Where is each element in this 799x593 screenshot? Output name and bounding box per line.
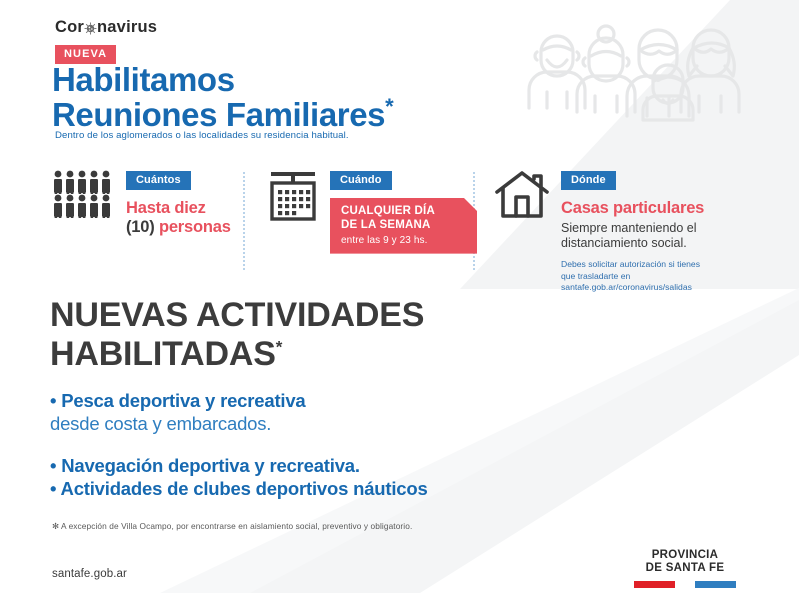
page-subtitle: Dentro de los aglomerados o las localida… (55, 130, 349, 141)
section-title: NUEVAS ACTIVIDADES HABILITADAS* (50, 296, 424, 375)
cuantos-headline: Hasta diez (10) personas (126, 199, 231, 237)
activities-list: • Pesca deportiva y recreativa desde cos… (50, 390, 428, 500)
donde-note-line-1: Debes solicitar autorización si tienes (561, 259, 704, 270)
cuando-ribbon: CUALQUIER DÍA DE LA SEMANA entre las 9 y… (330, 198, 477, 254)
activity-title: • Pesca deportiva y recreativa (50, 390, 428, 413)
wordmark-suffix: navirus (97, 18, 157, 37)
column-divider-1 (243, 172, 245, 270)
info-column-cuantos: Cuántos Hasta diez (10) personas (52, 170, 231, 237)
info-column-donde: Dónde Casas particulares Siempre manteni… (495, 170, 704, 294)
donde-note-url[interactable]: santafe.gob.ar/coronavirus/salidas (561, 282, 704, 293)
house-icon (495, 170, 549, 220)
province-logo-line-2: DE SANTA FE (634, 562, 736, 575)
logo-bar-blue (695, 581, 736, 588)
section-title-line-1: NUEVAS ACTIVIDADES (50, 296, 424, 335)
activity-detail: desde costa y embarcados. (50, 413, 428, 436)
coronavirus-wordmark: Cor navirus (55, 18, 157, 37)
cuantos-number: (10) (126, 218, 155, 236)
section-title-line-2: HABILITADAS (50, 335, 276, 373)
activity-title: • Navegación deportiva y recreativa. (50, 455, 428, 478)
list-item: • Actividades de clubes deportivos náuti… (50, 478, 428, 501)
page-title-line-1: Habilitamos (52, 62, 393, 97)
site-url[interactable]: santafe.gob.ar (52, 568, 127, 580)
ribbon-line-2: DE LA SEMANA (341, 219, 449, 233)
page-title-line-2-wrap: Reuniones Familiares* (52, 97, 393, 132)
donde-body: Siempre manteniendo el distanciamiento s… (561, 221, 704, 252)
info-column-cuando: Cuándo CUALQUIER DÍA DE LA SEMANA entre … (268, 170, 477, 254)
badge-donde: Dónde (561, 171, 616, 190)
page-title-line-2: Reuniones Familiares (52, 96, 385, 133)
title-asterisk: * (385, 94, 393, 119)
donde-headline: Casas particulares (561, 199, 704, 218)
family-outline-icon (527, 16, 757, 128)
list-item: • Pesca deportiva y recreativa desde cos… (50, 390, 428, 435)
badge-cuando: Cuándo (330, 171, 392, 190)
list-spacer (50, 435, 428, 455)
people-group-icon (52, 170, 114, 218)
donde-body-line-1: Siempre manteniendo el (561, 221, 704, 236)
infographic-poster: Cor navirus NUEVA (0, 0, 799, 593)
cuantos-line-2: (10) personas (126, 218, 231, 237)
list-item: • Navegación deportiva y recreativa. (50, 455, 428, 478)
donde-body-line-2: distanciamiento social. (561, 236, 704, 251)
section-title-line-2-wrap: HABILITADAS* (50, 335, 424, 374)
province-logo-bars (634, 581, 736, 588)
province-logo-line-1: PROVINCIA (634, 549, 736, 562)
ribbon-line-3: entre las 9 y 23 hs. (341, 235, 449, 246)
wordmark-prefix: Cor (55, 18, 84, 37)
section-title-asterisk: * (276, 338, 282, 357)
badge-cuantos: Cuántos (126, 171, 191, 190)
activity-title: • Actividades de clubes deportivos náuti… (50, 478, 428, 501)
page-title: Habilitamos Reuniones Familiares* (52, 62, 393, 133)
calendar-icon (268, 170, 318, 222)
virus-icon (84, 22, 97, 35)
ribbon-line-1: CUALQUIER DÍA (341, 205, 449, 219)
logo-bar-red (634, 581, 675, 588)
cuantos-word: personas (159, 218, 231, 236)
footnote: ✻ A excepción de Villa Ocampo, por encon… (52, 521, 412, 531)
donde-note: Debes solicitar autorización si tienes q… (561, 259, 704, 293)
cuantos-line-1: Hasta diez (126, 199, 231, 218)
province-logo: PROVINCIA DE SANTA FE (634, 549, 736, 588)
donde-note-line-2: que trasladarte en (561, 271, 704, 282)
